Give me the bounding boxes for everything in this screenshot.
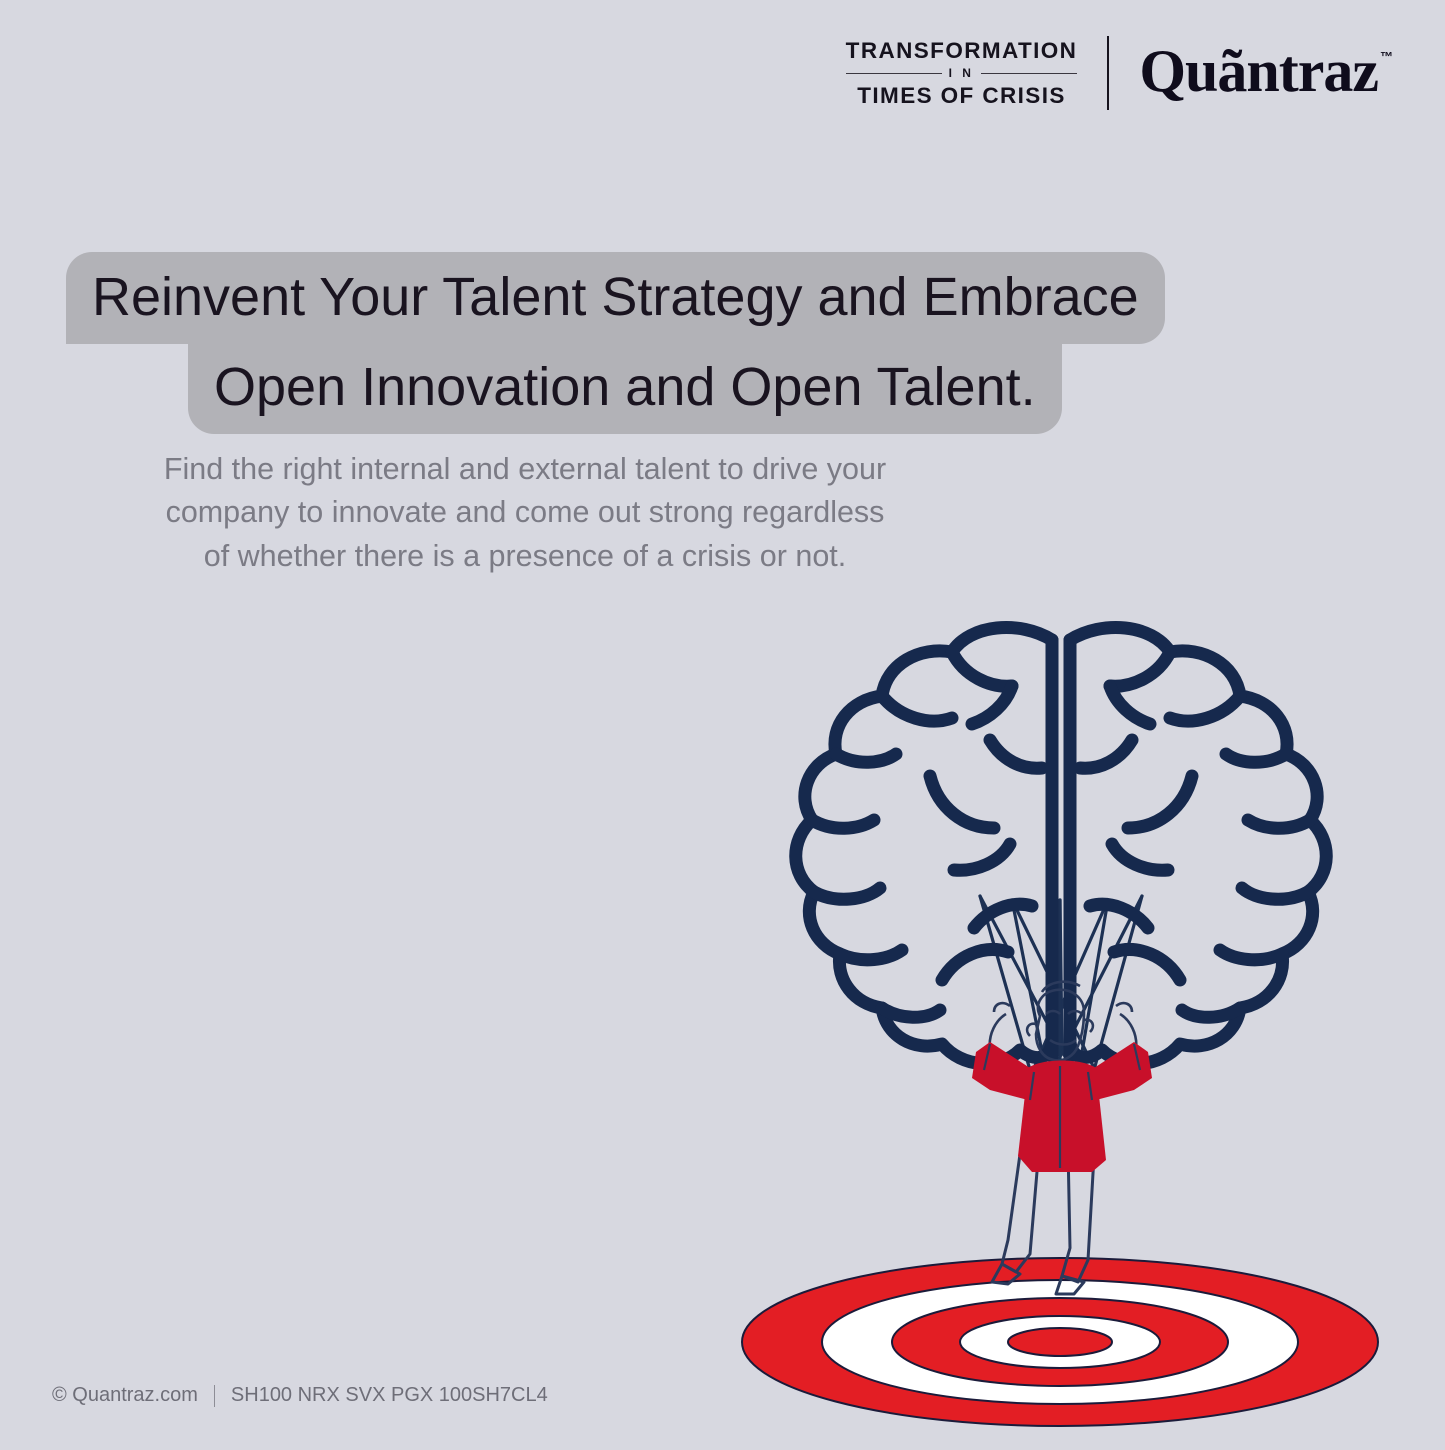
tagline-rule-left — [846, 73, 942, 74]
footer: © Quantraz.com SH100 NRX SVX PGX 100SH7C… — [52, 1384, 548, 1407]
headline-line-1: Reinvent Your Talent Strategy and Embrac… — [66, 252, 1165, 344]
headline-line-2: Open Innovation and Open Talent. — [188, 342, 1062, 434]
subtitle-line-3: of whether there is a presence of a cris… — [0, 535, 1050, 578]
footer-separator — [214, 1385, 215, 1407]
subtitle-line-1: Find the right internal and external tal… — [0, 448, 1050, 491]
tagline-bottom-text: TIMES OF CRISIS — [857, 83, 1066, 108]
brand-logo[interactable]: Quãntraz ™ — [1109, 43, 1393, 103]
header: TRANSFORMATION I N TIMES OF CRISIS Quãnt… — [846, 36, 1393, 110]
brain-icon — [796, 628, 1327, 1064]
headline: Reinvent Your Talent Strategy and Embrac… — [0, 252, 1445, 434]
jacket-torso — [1018, 1061, 1106, 1173]
tagline-rule-right — [981, 73, 1077, 74]
falling-person-figure — [972, 982, 1152, 1294]
footer-copyright: © Quantraz.com — [52, 1384, 198, 1407]
tagline-top-text: TRANSFORMATION — [846, 38, 1078, 63]
footer-code: SH100 NRX SVX PGX 100SH7CL4 — [231, 1384, 548, 1407]
campaign-tagline: TRANSFORMATION I N TIMES OF CRISIS — [846, 38, 1108, 108]
tagline-middle-row: I N — [846, 66, 1078, 80]
jacket-left-sleeve — [972, 1042, 1030, 1100]
parachute-cords — [980, 896, 1142, 1130]
subtitle: Find the right internal and external tal… — [0, 448, 1050, 578]
brand-logo-text: Quãntraz — [1139, 41, 1378, 101]
trademark-symbol: ™ — [1380, 49, 1393, 64]
tagline-middle-text: I N — [949, 66, 975, 80]
illustration-brain-parachute — [690, 600, 1445, 1450]
subtitle-line-2: company to innovate and come out strong … — [0, 491, 1050, 534]
target-rings-icon — [742, 1258, 1378, 1426]
poster-canvas: TRANSFORMATION I N TIMES OF CRISIS Quãnt… — [0, 0, 1445, 1445]
jacket-right-sleeve — [1094, 1042, 1152, 1100]
